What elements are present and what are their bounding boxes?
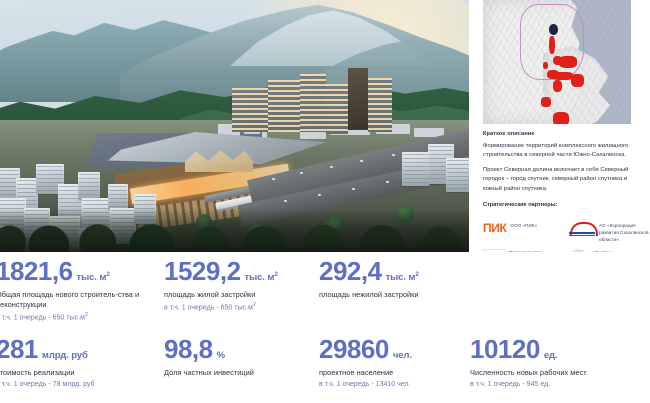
- stat-sublabel: в т.ч. 1 очередь - 78 млрд. руб: [0, 380, 164, 389]
- car: [352, 188, 355, 190]
- stat-label: площадь нежилой застройки: [319, 290, 474, 300]
- partner-korporaciya[interactable]: АО «Корпорация развития Сахалинской обла…: [569, 222, 649, 244]
- car: [272, 178, 275, 180]
- car: [300, 172, 303, 174]
- stat-residential-area: 1529,2 тыс. м2 площадь жилой застройки в…: [164, 258, 319, 313]
- stat-sublabel: в т.ч. 1 очередь - 650 тыс.м2: [164, 302, 319, 313]
- description-paragraph-2: Проект Северная долина включает в себя С…: [483, 166, 645, 194]
- stat-value: 98,8: [164, 336, 213, 362]
- key-figures-section: 1821,6 тыс. м2 Общая площадь нового стро…: [0, 252, 650, 403]
- map-highlight-zone: [571, 74, 584, 87]
- stat-sublabel: в т.ч. 1 очередь - 945 ед.: [470, 380, 648, 389]
- partner-pik[interactable]: ПИК ООО «ПИК»: [483, 222, 563, 244]
- car: [386, 181, 389, 183]
- stat-value: 281: [0, 336, 38, 362]
- map-highlight-zone: [553, 80, 562, 92]
- stat-value: 1529,2: [164, 258, 241, 284]
- residential-block: [402, 152, 430, 186]
- stat-new-jobs: 10120 ед. Численность новых рабочих мест…: [470, 336, 648, 390]
- stat-value-line: 292,4 тыс. м2: [319, 258, 474, 284]
- pik-logo: ПИК: [483, 222, 506, 234]
- partner-label: АО «Корпорация развития Сахалинской обла…: [599, 222, 649, 244]
- residential-block: [78, 172, 100, 200]
- stat-value-line: 98,8 %: [164, 336, 314, 362]
- stat-value: 29860: [319, 336, 389, 362]
- stat-unit: чел.: [393, 350, 412, 361]
- car: [284, 200, 287, 202]
- map-highlight-zone: [559, 56, 577, 68]
- stat-label: площадь жилой застройки: [164, 290, 319, 300]
- office-tower: [368, 78, 392, 132]
- car: [392, 154, 395, 156]
- map-city-marker: [549, 24, 558, 35]
- stat-investment-cost: 281 млрд. руб стоимость реализации в т.ч…: [0, 336, 164, 390]
- korporaciya-logo: [569, 222, 595, 237]
- korporaciya-bar-blue: [569, 232, 595, 234]
- project-visualization-photo: [0, 0, 469, 252]
- stat-value-line: 29860 чел.: [319, 336, 469, 362]
- stat-value: 292,4: [319, 258, 382, 284]
- stat-unit: млрд. руб: [42, 350, 88, 361]
- info-panel: Краткое описание Формирование территорий…: [469, 0, 650, 252]
- office-tower: [300, 74, 326, 132]
- partners-title: Стратегические партнеры:: [483, 202, 645, 208]
- stat-unit: тыс. м2: [77, 271, 110, 283]
- stat-value-line: 1529,2 тыс. м2: [164, 258, 319, 284]
- stat-sublabel: в т.ч. 1 очередь - 13410 чел.: [319, 380, 469, 389]
- map-highlight-zone: [543, 62, 548, 69]
- stat-private-investment-share: 98,8 % Доля частных инвестиций: [164, 336, 314, 378]
- stat-label: проектное население: [319, 368, 469, 378]
- stat-label: Доля частных инвестиций: [164, 368, 314, 378]
- car: [318, 194, 321, 196]
- stat-unit: тыс. м2: [386, 271, 419, 283]
- foreground-shadow: [0, 208, 469, 252]
- car: [330, 166, 333, 168]
- stat-label: стоимость реализации: [0, 368, 164, 378]
- residential-block: [446, 158, 469, 192]
- stat-value-line: 1821,6 тыс. м2: [0, 258, 164, 284]
- stat-unit: тыс. м2: [245, 271, 278, 283]
- stat-sublabel: в т.ч. 1 очередь - 650 тыс.м2: [0, 312, 164, 323]
- sakhalin-location-map: [483, 0, 631, 124]
- stat-total-area: 1821,6 тыс. м2 Общая площадь нового стро…: [0, 258, 164, 323]
- office-tower: [268, 80, 300, 132]
- stat-label: Численность новых рабочих мест: [470, 368, 648, 378]
- residential-block: [108, 184, 128, 210]
- map-highlight-zone: [541, 97, 551, 107]
- korporaciya-bar-red: [569, 235, 595, 237]
- partner-label: ООО «ПИК»: [510, 222, 537, 230]
- car: [360, 160, 363, 162]
- slide-root: Краткое описание Формирование территорий…: [0, 0, 650, 403]
- stat-label: Общая площадь нового строитель-ства и ре…: [0, 290, 164, 310]
- description-block: Краткое описание Формирование территорий…: [483, 131, 645, 213]
- map-highlight-zone: [553, 112, 569, 124]
- description-title: Краткое описание: [483, 131, 645, 138]
- stat-unit: %: [217, 350, 225, 361]
- stat-value-line: 281 млрд. руб: [0, 336, 164, 362]
- description-paragraph-1: Формирование территорий комплексного жил…: [483, 142, 645, 161]
- office-tower: [232, 88, 268, 132]
- stat-nonresidential-area: 292,4 тыс. м2 площадь нежилой застройки: [319, 258, 474, 300]
- office-tower-dark: [348, 68, 368, 130]
- stat-value: 1821,6: [0, 258, 73, 284]
- partners-row-1: ПИК ООО «ПИК» АО «Корпорация развития Са…: [483, 222, 650, 244]
- map-highlight-zone: [553, 72, 573, 80]
- map-highlight-zone: [549, 36, 555, 54]
- stat-projected-population: 29860 чел. проектное население в т.ч. 1 …: [319, 336, 469, 390]
- stat-unit: ед.: [544, 350, 558, 361]
- stat-value: 10120: [470, 336, 540, 362]
- office-tower: [326, 84, 348, 134]
- stat-value-line: 10120 ед.: [470, 336, 648, 362]
